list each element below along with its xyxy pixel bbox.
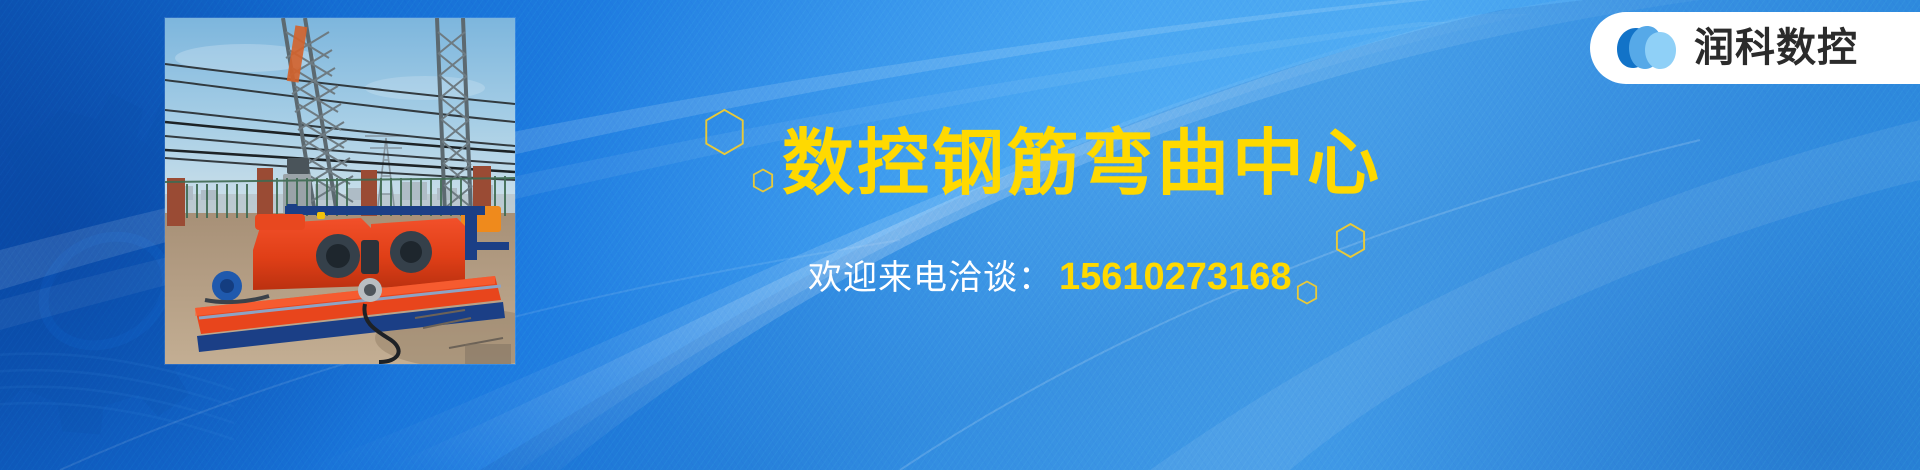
hexagon-small-left-icon <box>752 168 774 193</box>
contact-line: 欢迎来电洽谈：15610273168 <box>808 258 1291 296</box>
product-photo-image <box>165 18 515 364</box>
contact-phone-number[interactable]: 15610273168 <box>1059 256 1291 298</box>
product-photo <box>165 18 515 364</box>
promo-banner: 数控钢筋弯曲中心 欢迎来电洽谈：15610273168 润科数控 <box>0 0 1920 470</box>
page-title: 数控钢筋弯曲中心 <box>782 128 1382 200</box>
brand-name-label: 润科数控 <box>1694 28 1858 68</box>
brand-logo[interactable]: 润科数控 <box>1590 12 1920 84</box>
hexagon-medium-right-icon <box>1334 222 1367 259</box>
hexagon-large-left-icon <box>703 108 746 156</box>
cloud-leaf-logo-icon <box>1616 24 1678 72</box>
hexagon-small-right-icon <box>1296 280 1318 305</box>
contact-label: 欢迎来电洽谈： <box>808 259 1053 297</box>
